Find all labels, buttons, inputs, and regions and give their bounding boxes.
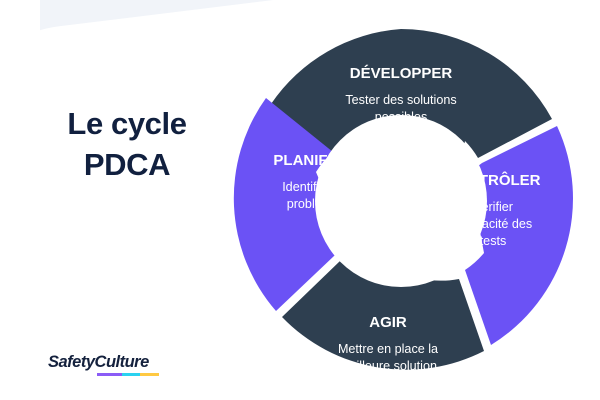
cycle-segment-controler-desc-3: tests <box>480 234 507 248</box>
cycle-segment-agir-desc-2: meilleure solution <box>339 359 437 373</box>
cycle-segment-developper-title: DÉVELOPPER <box>350 65 453 82</box>
cycle-segment-developper-desc-1: Tester des solutions <box>345 93 456 107</box>
safetyculture-logo-text: SafetyCulture <box>48 354 159 371</box>
logo-underline-yellow <box>140 373 159 376</box>
logo-word-safety: Safety <box>48 353 95 371</box>
page-title-line2: PDCA <box>22 145 232 186</box>
background-panel-left <box>0 0 40 400</box>
logo-word-culture: Culture <box>95 353 149 371</box>
cycle-segment-agir-desc-1: Mettre en place la <box>338 342 438 356</box>
logo-underline <box>97 373 159 376</box>
pdca-cycle-diagram: DÉVELOPPER Tester des solutions possible… <box>225 25 577 377</box>
page-title-line1: Le cycle <box>22 104 232 145</box>
page-title: Le cycle PDCA <box>22 104 232 186</box>
logo-underline-purple <box>97 373 122 376</box>
safetyculture-logo[interactable]: SafetyCulture <box>48 354 159 376</box>
logo-underline-cyan <box>122 373 141 376</box>
cycle-center-hole <box>315 115 487 287</box>
slide-canvas: Le cycle PDCA DÉVELOPPER Tester des solu… <box>0 0 600 400</box>
cycle-segment-agir-title: AGIR <box>369 314 407 331</box>
